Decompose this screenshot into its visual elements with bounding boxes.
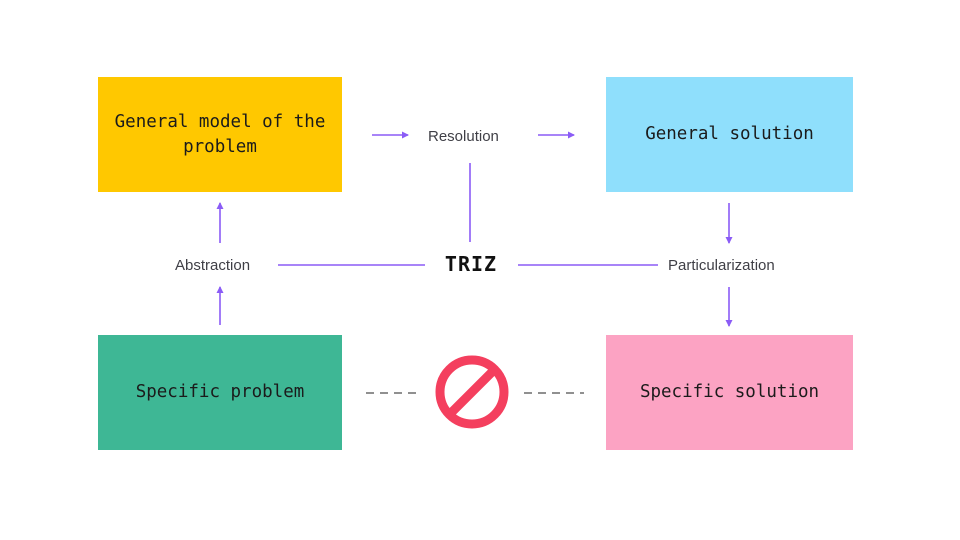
- box-specific-solution-label: Specific solution: [640, 380, 819, 405]
- box-general-solution[interactable]: General solution: [606, 77, 853, 192]
- box-general-model-of-the-problem[interactable]: General model of the problem: [98, 77, 342, 192]
- prohibition-icon: [432, 352, 512, 432]
- box-general-solution-label: General solution: [645, 122, 814, 147]
- triz-diagram: General model of the problem General sol…: [0, 0, 960, 540]
- box-specific-solution[interactable]: Specific solution: [606, 335, 853, 450]
- box-general-problem-label: General model of the problem: [115, 110, 326, 160]
- label-resolution: Resolution: [428, 128, 499, 145]
- box-specific-problem-label: Specific problem: [136, 380, 305, 405]
- triz-center-label: TRIZ: [425, 252, 517, 276]
- label-particularization: Particularization: [668, 257, 775, 274]
- box-specific-problem[interactable]: Specific problem: [98, 335, 342, 450]
- label-abstraction: Abstraction: [175, 257, 250, 274]
